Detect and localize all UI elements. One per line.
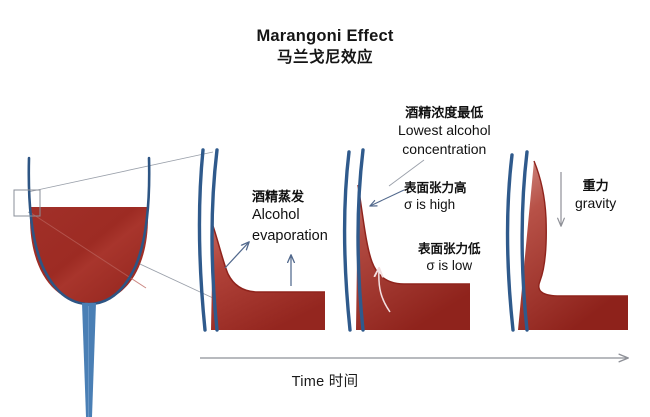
- label-lowest-concentration-chinese: 酒精浓度最低: [398, 104, 491, 121]
- label-gravity: 重力 gravity: [575, 178, 616, 212]
- label-lowest-concentration-english-line1: Lowest alcohol: [398, 121, 491, 140]
- label-alcohol-evaporation-english-line1: Alcohol: [252, 205, 328, 226]
- panel1-glass-outer: [199, 150, 205, 330]
- label-lowest-concentration: 酒精浓度最低 Lowest alcohol concentration: [398, 104, 491, 159]
- label-lowest-concentration-english-line2: concentration: [398, 140, 491, 159]
- panel3-glass-outer: [508, 155, 513, 330]
- label-gravity-english: gravity: [575, 194, 616, 212]
- label-surface-tension-high-english: σ is high: [404, 196, 467, 214]
- wine-liquid: [30, 207, 148, 303]
- panel1-arrow-diagonal: [225, 242, 249, 268]
- label-surface-tension-low-chinese: 表面张力低: [418, 241, 481, 257]
- label-gravity-chinese: 重力: [575, 178, 616, 194]
- panel2-glass-outer: [345, 152, 350, 330]
- panel2-leader-sigma-high: [370, 190, 404, 206]
- label-alcohol-evaporation-english-line2: evaporation: [252, 226, 328, 247]
- label-surface-tension-high-chinese: 表面张力高: [404, 180, 467, 196]
- diagram-canvas: Marangoni Effect 马兰戈尼效应 酒精蒸发 Alcohol eva…: [0, 0, 650, 417]
- time-axis-caption: Time 时间: [0, 370, 650, 391]
- label-alcohol-evaporation: 酒精蒸发 Alcohol evaporation: [252, 188, 328, 247]
- label-surface-tension-low: 表面张力低 σ is low: [418, 241, 481, 275]
- label-surface-tension-low-english: σ is low: [418, 257, 481, 275]
- panel-tension-gradient: [345, 150, 470, 330]
- label-surface-tension-high: 表面张力高 σ is high: [404, 180, 467, 214]
- label-alcohol-evaporation-chinese: 酒精蒸发: [252, 188, 328, 205]
